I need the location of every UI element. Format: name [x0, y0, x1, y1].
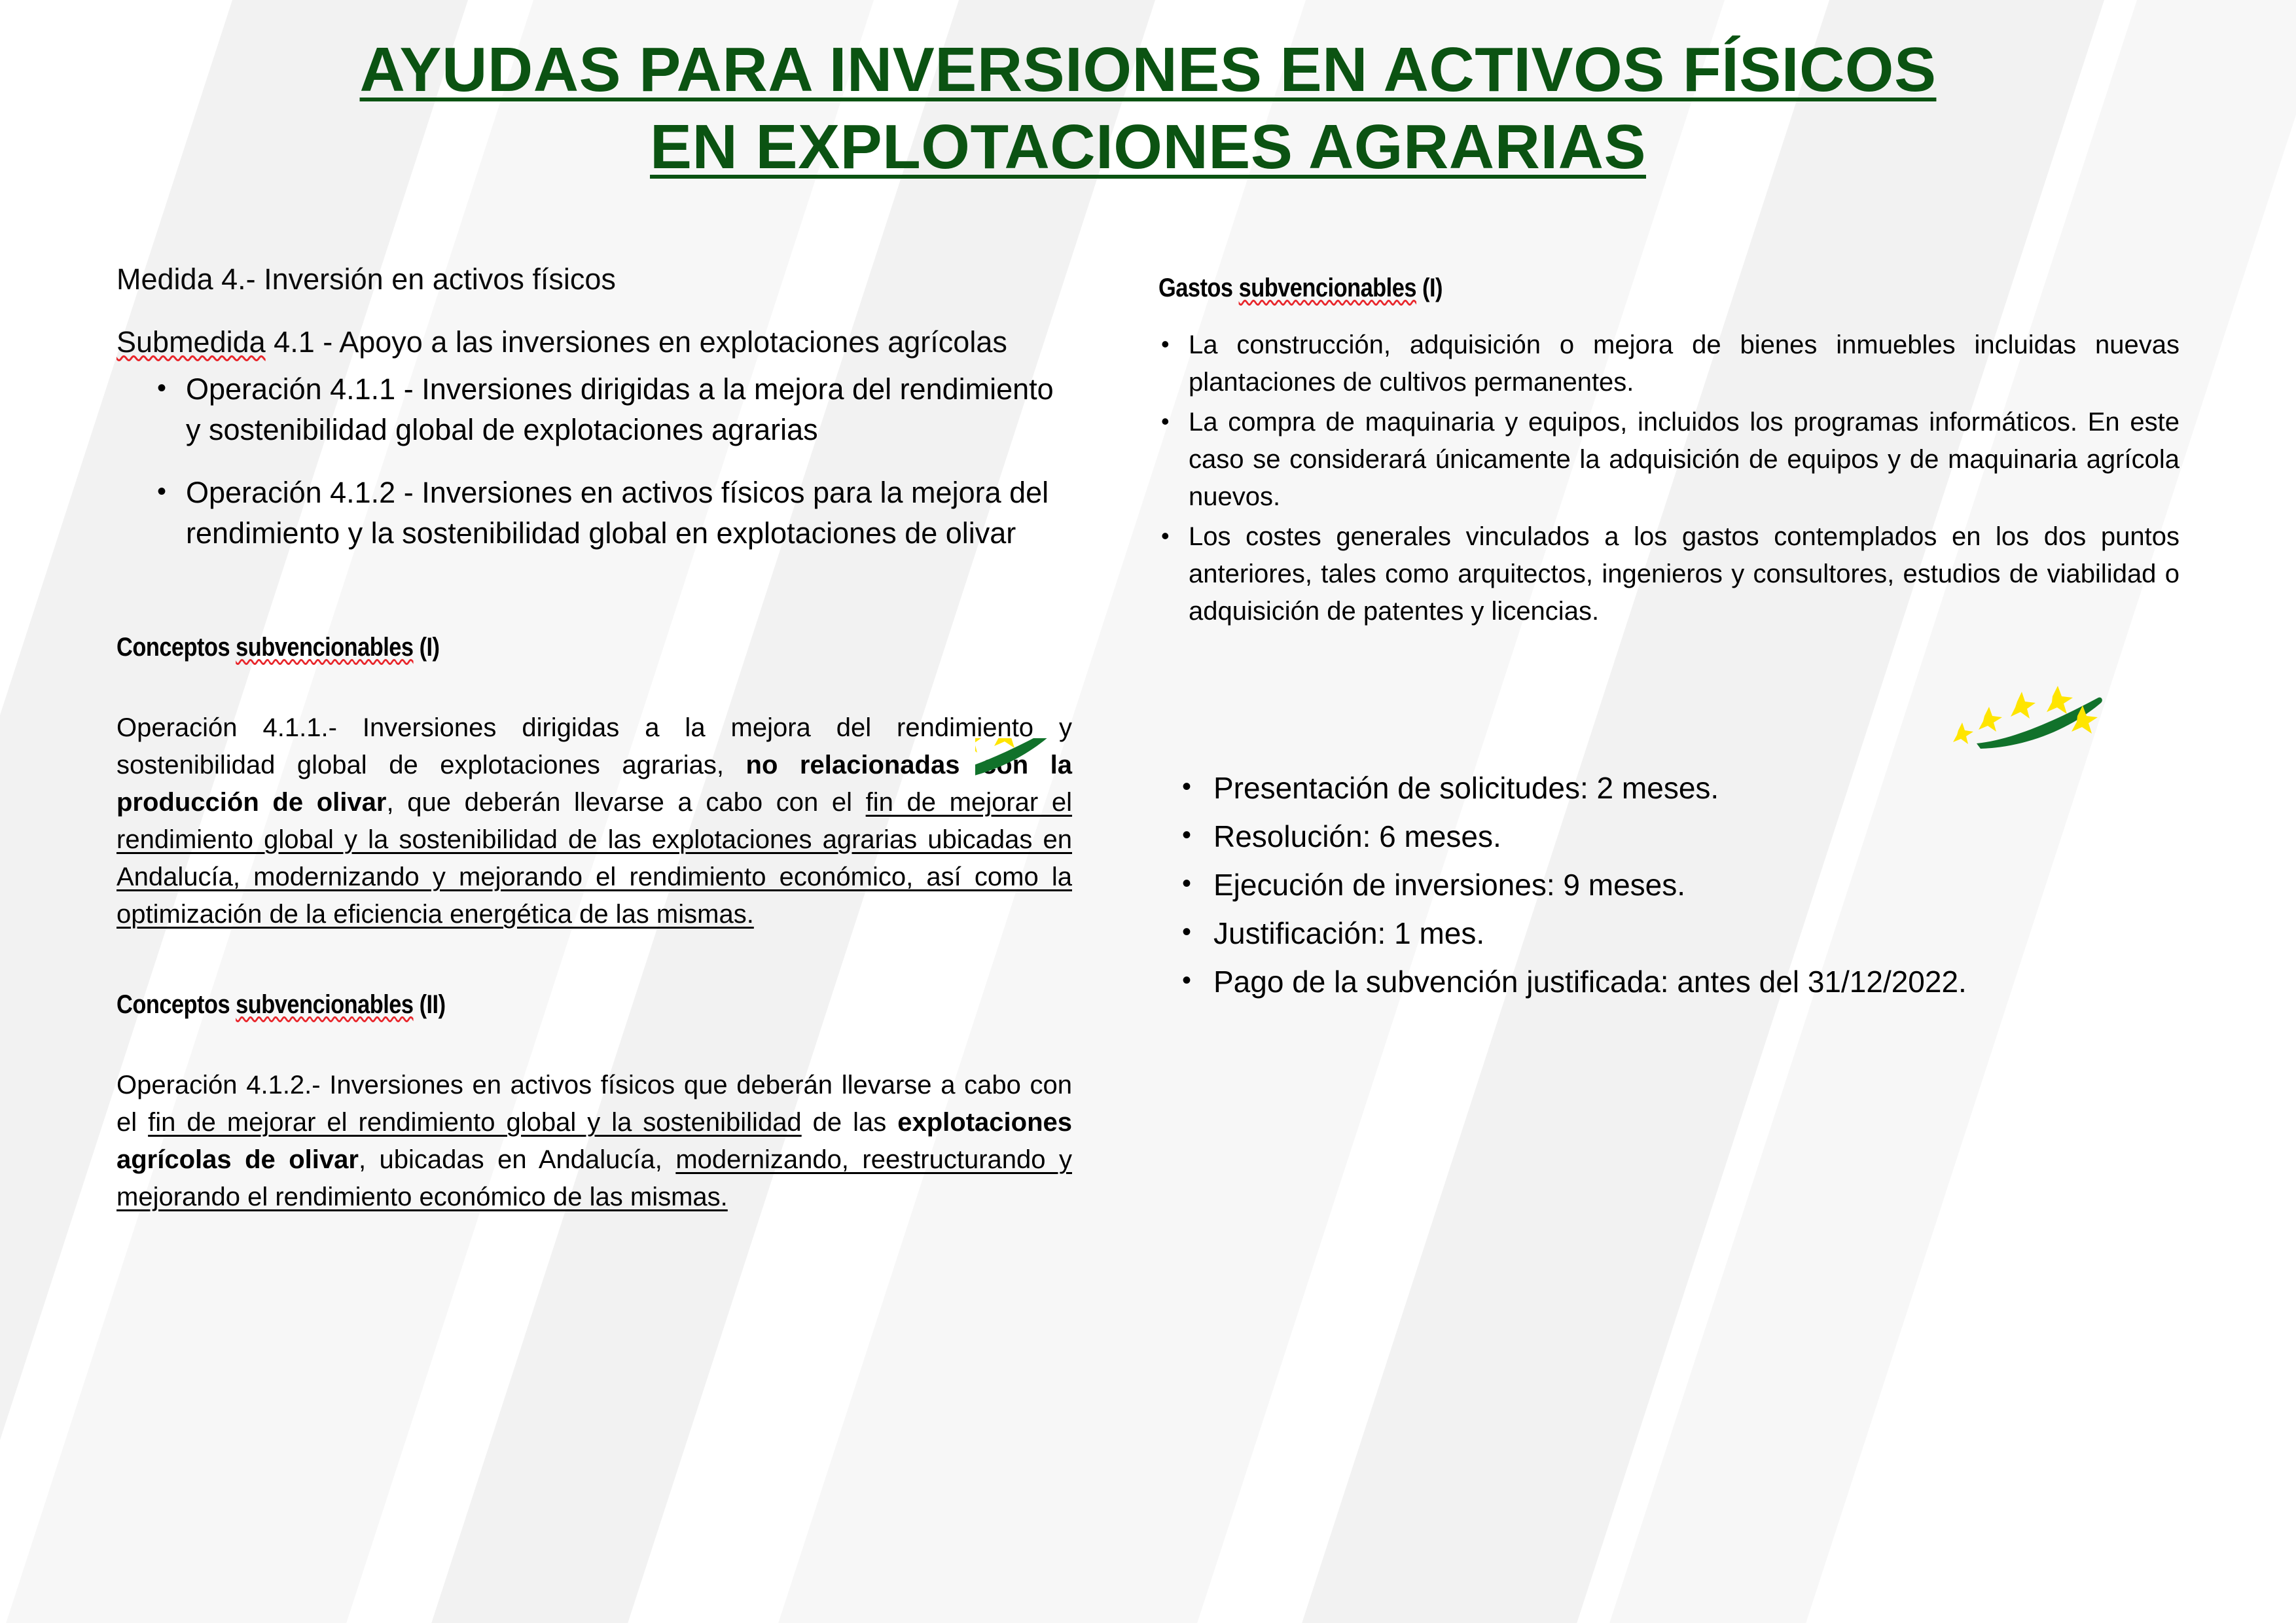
operaciones-list: Operación 4.1.1 - Inversiones dirigidas …	[117, 369, 1072, 554]
green-swoosh-stars-logo	[1949, 678, 2106, 757]
conceptos-i-heading: Conceptos subvencionables (I)	[117, 631, 939, 664]
conceptos-ii-text-c: , ubicadas en Andalucía,	[359, 1145, 675, 1174]
gastos-heading-pre: Gastos	[1158, 274, 1239, 302]
list-item: Justificación: 1 mes.	[1182, 909, 2179, 957]
gastos-item-text: La compra de maquinaria y equipos, inclu…	[1189, 408, 2179, 511]
plazo-item-text: Pago de la subvención justificada: antes…	[1213, 965, 1967, 999]
gastos-list: La construcción, adquisición o mejora de…	[1158, 327, 2179, 630]
list-item: Los costes generales vinculados a los ga…	[1158, 518, 2179, 630]
list-item: Presentación de solicitudes: 2 meses.	[1182, 764, 2179, 812]
page-title: AYUDAS PARA INVERSIONES EN ACTIVOS FÍSIC…	[0, 31, 2296, 186]
gastos-item-text: Los costes generales vinculados a los ga…	[1189, 522, 2179, 626]
gastos-item-text: La construcción, adquisición o mejora de…	[1189, 330, 2179, 397]
plazo-item-text: Ejecución de inversiones: 9 meses.	[1213, 868, 1685, 902]
list-item: La compra de maquinaria y equipos, inclu…	[1158, 404, 2179, 516]
plazo-item-text: Justificación: 1 mes.	[1213, 916, 1484, 950]
conceptos-i-text-b: , que deberán llevarse a cabo con el	[386, 788, 865, 817]
list-item: Operación 4.1.1 - Inversiones dirigidas …	[157, 369, 1072, 450]
conceptos-ii-heading-post: (II)	[414, 990, 446, 1019]
green-swoosh-stars-logo-clipped	[975, 738, 1054, 784]
list-item: Pago de la subvención justificada: antes…	[1182, 957, 2179, 1006]
plazo-item-text: Presentación de solicitudes: 2 meses.	[1213, 771, 1719, 805]
right-column: Gastos subvencionables (I) La construcci…	[1158, 272, 2179, 1006]
submedida-line: Submedida 4.1 - Apoyo a las inversiones …	[117, 322, 1072, 363]
operacion-412-text: Operación 4.1.2 - Inversiones en activos…	[186, 476, 1049, 550]
page-title-line-2: EN EXPLOTACIONES AGRARIAS	[0, 109, 2296, 186]
spacer	[117, 673, 1072, 709]
left-column: Medida 4.- Inversión en activos físicos …	[117, 259, 1072, 1216]
plazo-item-text: Resolución: 6 meses.	[1213, 819, 1501, 853]
operacion-411-text: Operación 4.1.1 - Inversiones dirigidas …	[186, 372, 1054, 446]
submedida-keyword: Submedida	[117, 325, 266, 359]
conceptos-ii-heading: Conceptos subvencionables (II)	[117, 988, 939, 1021]
submedida-rest: 4.1 - Apoyo a las inversiones en explota…	[266, 325, 1007, 359]
conceptos-ii-text-b: de las	[802, 1108, 898, 1137]
conceptos-i-heading-post: (I)	[414, 633, 440, 662]
gastos-heading-spell: subvencionables	[1239, 274, 1416, 302]
spacer	[117, 1030, 1072, 1067]
list-item: La construcción, adquisición o mejora de…	[1158, 327, 2179, 401]
list-item: Resolución: 6 meses.	[1182, 812, 2179, 861]
conceptos-ii-text-u1: fin de mejorar el rendimiento global y l…	[148, 1108, 802, 1137]
list-item: Ejecución de inversiones: 9 meses.	[1182, 861, 2179, 909]
list-item: Operación 4.1.2 - Inversiones en activos…	[157, 473, 1072, 554]
conceptos-i-heading-pre: Conceptos	[117, 633, 236, 662]
conceptos-ii-heading-pre: Conceptos	[117, 990, 236, 1019]
gastos-heading: Gastos subvencionables (I)	[1158, 272, 2037, 304]
conceptos-ii-paragraph: Operación 4.1.2.- Inversiones en activos…	[117, 1067, 1072, 1216]
page-title-line-1: AYUDAS PARA INVERSIONES EN ACTIVOS FÍSIC…	[0, 31, 2296, 109]
plazos-list: Presentación de solicitudes: 2 meses. Re…	[1158, 764, 2179, 1006]
gastos-heading-post: (I)	[1416, 274, 1443, 302]
conceptos-i-paragraph: Operación 4.1.1.- Inversiones dirigidas …	[117, 709, 1072, 933]
spacer	[117, 933, 1072, 988]
conceptos-i-heading-spell: subvencionables	[236, 633, 413, 662]
conceptos-ii-heading-spell: subvencionables	[236, 990, 413, 1019]
medida-line: Medida 4.- Inversión en activos físicos	[117, 259, 1072, 300]
spacer	[117, 576, 1072, 631]
